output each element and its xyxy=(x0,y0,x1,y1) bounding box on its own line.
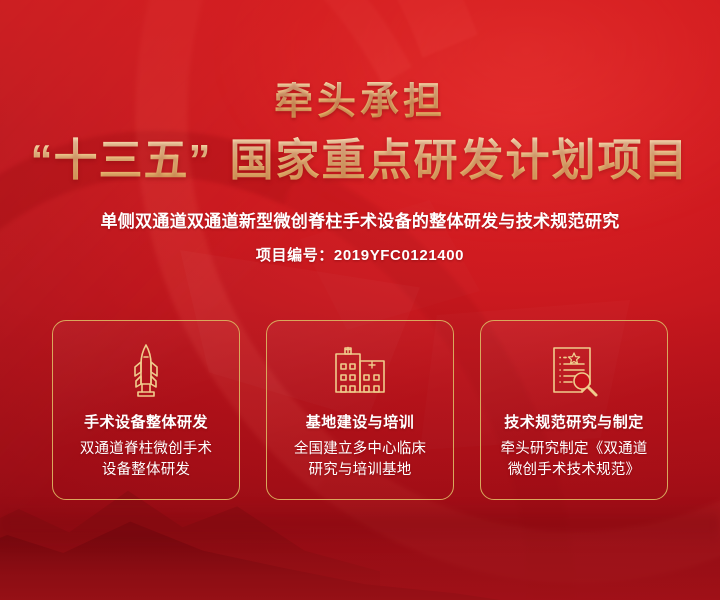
card-equipment-rd[interactable]: 手术设备整体研发 双通道脊柱微创手术 设备整体研发 xyxy=(52,320,240,500)
card-title: 手术设备整体研发 xyxy=(84,411,208,432)
title-quoted-part: “十三五” xyxy=(31,136,212,185)
card-description: 全国建立多中心临床 研究与培训基地 xyxy=(286,439,434,481)
project-code-label: 项目编号： xyxy=(256,247,334,264)
project-code: 项目编号：2019YFC0121400 xyxy=(0,244,720,265)
card-title: 基地建设与培训 xyxy=(306,411,415,432)
card-description: 牵头研究制定《双通道 微创手术技术规范》 xyxy=(493,439,656,481)
card-base-training[interactable]: 基地建设与培训 全国建立多中心临床 研究与培训基地 xyxy=(266,320,454,500)
card-description: 双通道脊柱微创手术 设备整体研发 xyxy=(72,439,220,481)
project-description: 单侧双通道双通道新型微创脊柱手术设备的整体研发与技术规范研究 xyxy=(0,207,720,232)
card-technical-standard[interactable]: 技术规范研究与制定 牵头研究制定《双通道 微创手术技术规范》 xyxy=(480,320,668,500)
page-title: 牵头承担 xyxy=(0,82,720,121)
background-band-lower xyxy=(0,538,720,600)
card-description-line-1: 双通道脊柱微创手术 xyxy=(80,439,212,460)
page-subtitle: “十三五”国家重点研发计划项目 xyxy=(0,137,720,185)
card-description-line-2: 微创手术技术规范》 xyxy=(501,460,648,481)
headline-block: 牵头承担 “十三五”国家重点研发计划项目 单侧双通道双通道新型微创脊柱手术设备的… xyxy=(0,0,720,265)
card-title: 技术规范研究与制定 xyxy=(504,411,644,432)
card-description-line-2: 研究与培训基地 xyxy=(294,460,426,481)
document-search-icon xyxy=(546,343,602,399)
poster-banner: 牵头承担 “十三五”国家重点研发计划项目 单侧双通道双通道新型微创脊柱手术设备的… xyxy=(0,0,720,600)
rocket-icon xyxy=(123,343,169,399)
title-rest-part: 国家重点研发计划项目 xyxy=(230,136,690,185)
card-list: 手术设备整体研发 双通道脊柱微创手术 设备整体研发 xyxy=(52,320,668,500)
card-description-line-2: 设备整体研发 xyxy=(80,460,212,481)
card-description-line-1: 全国建立多中心临床 xyxy=(294,439,426,460)
hospital-building-icon xyxy=(333,343,387,399)
project-code-value: 2019YFC0121400 xyxy=(334,247,464,264)
card-description-line-1: 牵头研究制定《双通道 xyxy=(501,439,648,460)
